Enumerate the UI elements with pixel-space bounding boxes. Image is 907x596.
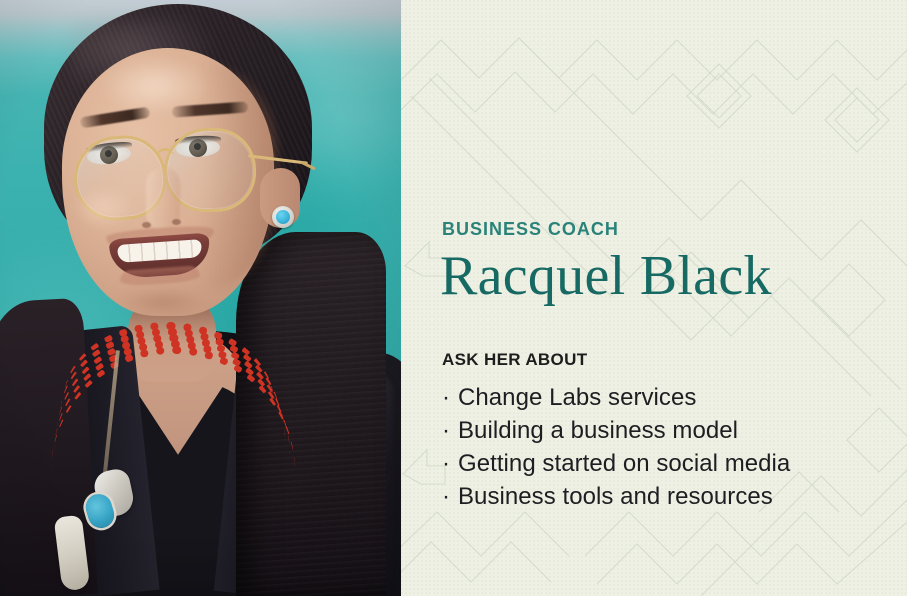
bullet-marker-icon: ·: [442, 447, 458, 480]
info-content: BUSINESS COACH Racquel Black ASK HER ABO…: [442, 0, 902, 596]
list-item: ·Business tools and resources: [442, 480, 790, 513]
list-item-label: Getting started on social media: [458, 450, 790, 477]
info-panel: BUSINESS COACH Racquel Black ASK HER ABO…: [401, 0, 907, 596]
person-name: Racquel Black: [440, 247, 772, 306]
list-item-label: Building a business model: [458, 417, 738, 444]
portrait-photo: [0, 0, 401, 596]
bullet-marker-icon: ·: [442, 480, 458, 513]
list-item-label: Change Labs services: [458, 384, 696, 411]
photo-subject: [0, 0, 401, 596]
coral-bead-necklace: [0, 0, 401, 596]
list-item: ·Getting started on social media: [442, 447, 790, 480]
list-item-label: Business tools and resources: [458, 483, 773, 510]
speaker-profile-card: BUSINESS COACH Racquel Black ASK HER ABO…: [0, 0, 907, 596]
list-item: ·Change Labs services: [442, 381, 790, 414]
role-eyebrow: BUSINESS COACH: [442, 219, 619, 240]
list-item: ·Building a business model: [442, 414, 790, 447]
bullet-marker-icon: ·: [442, 414, 458, 447]
bullet-marker-icon: ·: [442, 381, 458, 414]
topic-list: ·Change Labs services ·Building a busine…: [442, 381, 790, 513]
ask-her-about-label: ASK HER ABOUT: [442, 350, 587, 370]
